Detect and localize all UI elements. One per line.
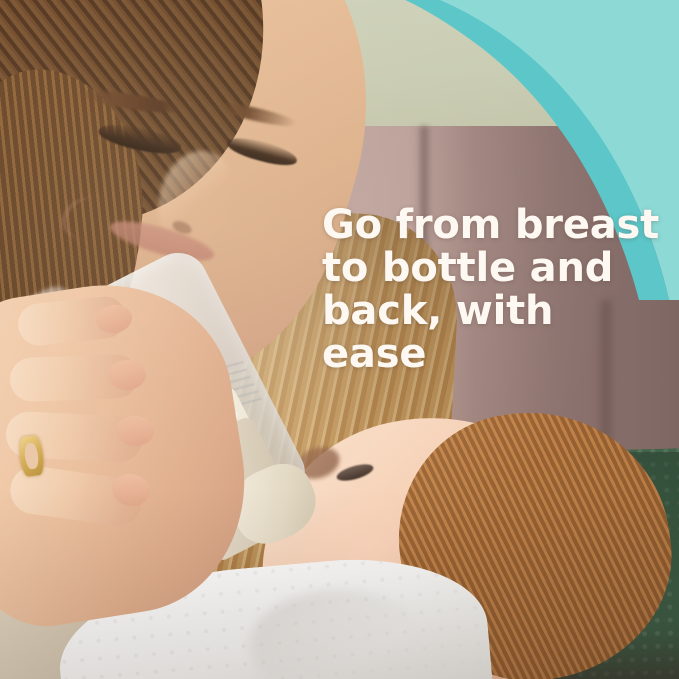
headline-text: Go from breast to bottle and back, with … <box>322 204 662 376</box>
ad-banner: Go from breast to bottle and back, with … <box>0 0 679 679</box>
